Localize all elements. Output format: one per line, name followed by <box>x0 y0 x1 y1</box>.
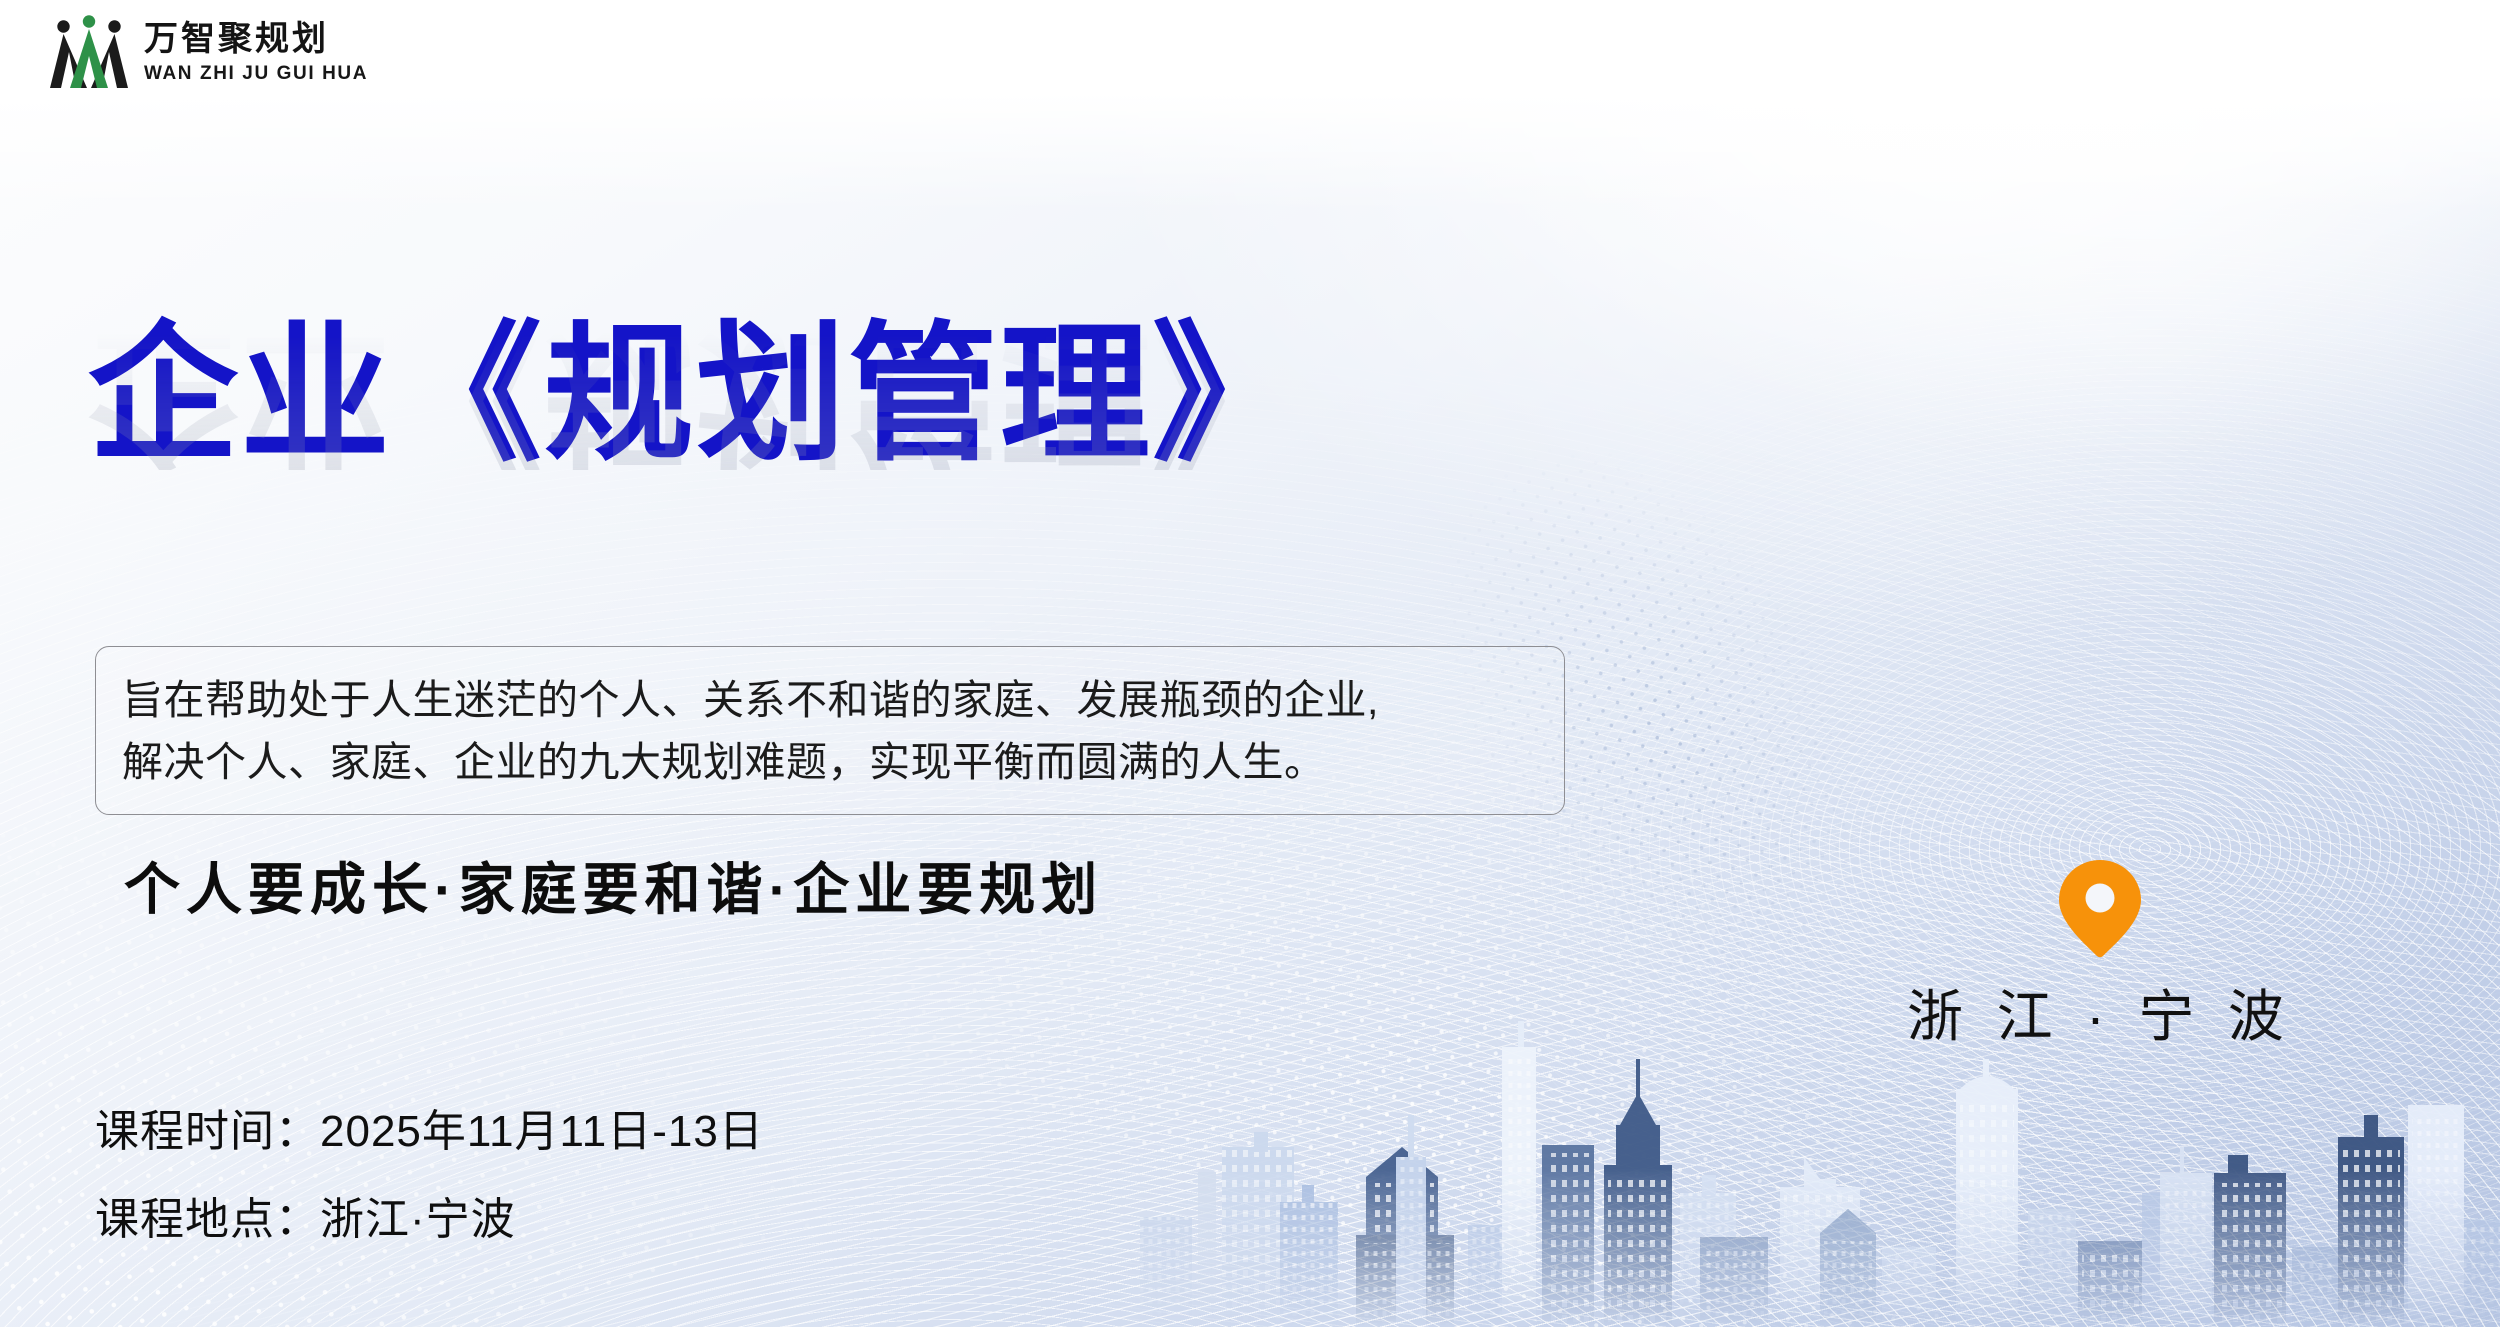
course-info: 课程时间：2025年11月11日-13日 课程地点：浙江·宁波 <box>95 1110 764 1242</box>
description-box: 旨在帮助处于人生迷茫的个人、关系不和谐的家庭、发展瓶颈的企业, 解决个人、家庭、… <box>95 646 1565 815</box>
three-people-logo-icon <box>48 14 130 92</box>
brand-name-pinyin: WAN ZHI JU GUI HUA <box>144 64 368 83</box>
description-line-1: 旨在帮助处于人生迷茫的个人、关系不和谐的家庭、发展瓶颈的企业, <box>122 669 1538 731</box>
course-place: 课程地点：浙江·宁波 <box>95 1198 764 1242</box>
location-badge: 浙 江 · 宁 波 <box>1900 858 2300 1053</box>
hero-tagline: 个人要成长·家庭要和谐·企业要规划 <box>124 845 1103 926</box>
poster-canvas: 万智聚规划 WAN ZHI JU GUI HUA 企业《规划管理》 企业《规划管… <box>0 0 2500 1327</box>
page-title: 企业《规划管理》 <box>88 320 1304 470</box>
brand-name-cn: 万智聚规划 <box>144 23 368 57</box>
brand-logo[interactable]: 万智聚规划 WAN ZHI JU GUI HUA <box>48 14 368 92</box>
location-name: 浙 江 · 宁 波 <box>1907 972 2293 1053</box>
hero-title-block: 企业《规划管理》 企业《规划管理》 <box>88 320 1304 620</box>
description-line-2: 解决个人、家庭、企业的九大规划难题，实现平衡而圆满的人生。 <box>122 731 1538 793</box>
course-time: 课程时间：2025年11月11日-13日 <box>95 1110 764 1154</box>
map-pin-icon <box>2057 858 2143 958</box>
